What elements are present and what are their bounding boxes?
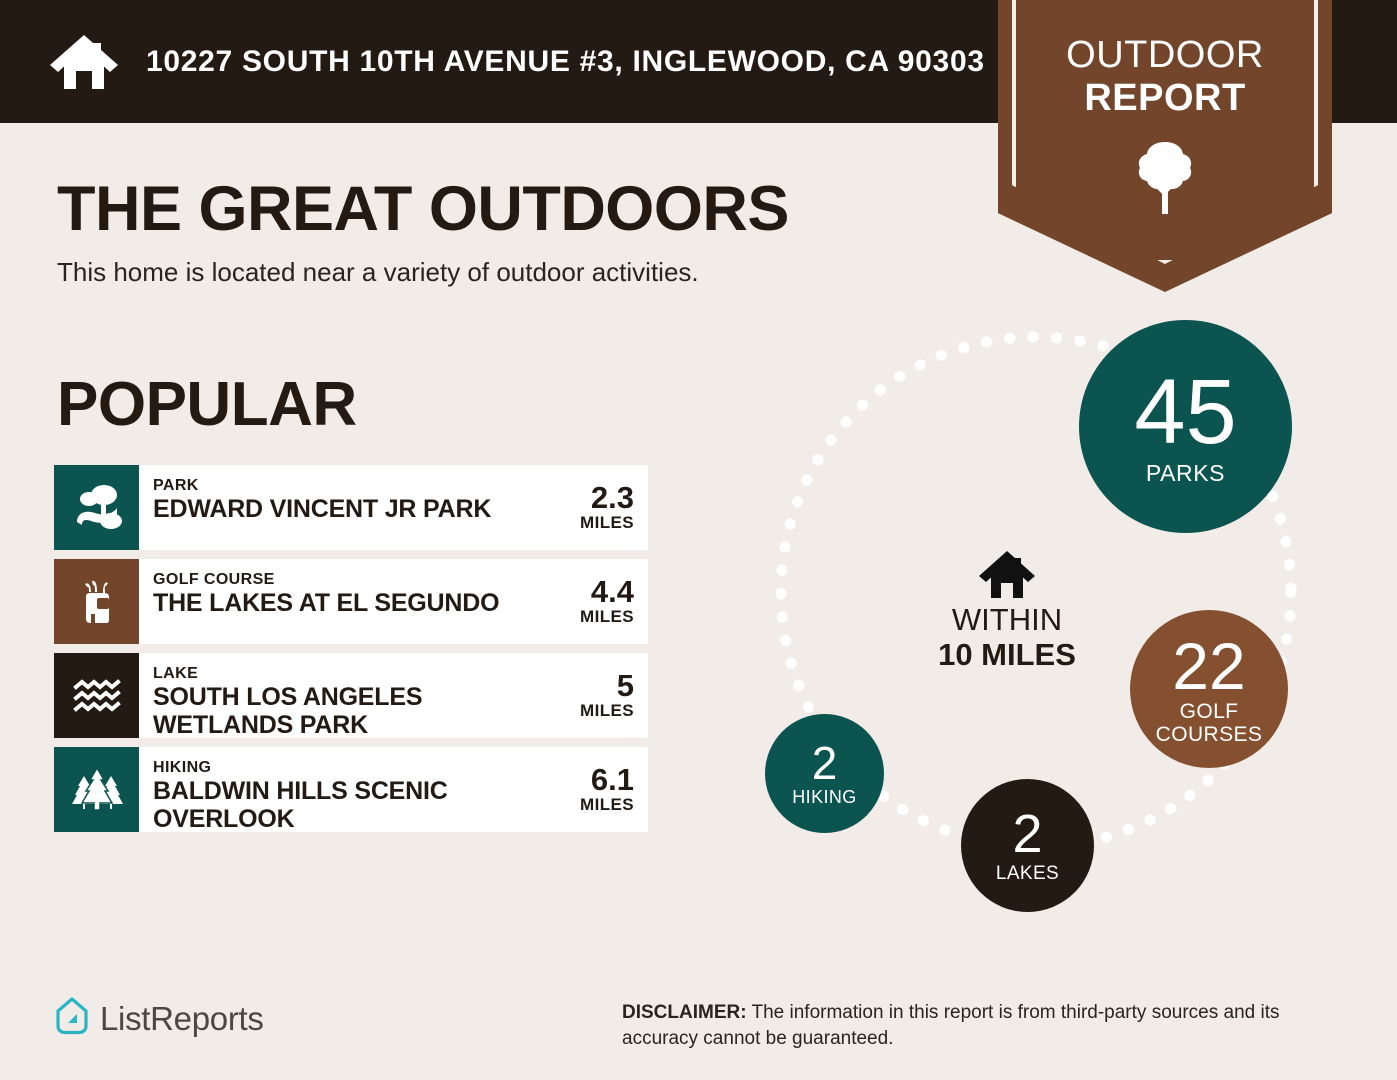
golf-bag-icon: [54, 559, 139, 644]
distance-unit: MILES: [580, 607, 634, 627]
within-label-line1: WITHIN: [916, 602, 1098, 637]
listreports-wordmark: ListReports: [100, 1000, 264, 1038]
distance-unit: MILES: [580, 513, 634, 533]
bubble-parks-value: 45: [1134, 366, 1236, 458]
list-item-category: HIKING: [153, 759, 548, 777]
badge-title-line2: REPORT: [998, 77, 1332, 120]
section-heading-popular: POPULAR: [57, 369, 357, 440]
tree-icon: [1135, 140, 1195, 216]
page-subtitle: This home is located near a variety of o…: [57, 257, 699, 288]
list-item-category: GOLF COURSE: [153, 571, 548, 589]
within-10-miles-diagram: 45 PARKS 22 GOLF COURSES 2 LAKES 2 HIKIN…: [736, 300, 1376, 940]
distance-value: 2.3: [591, 482, 634, 513]
disclaimer-label: DISCLAIMER:: [622, 1002, 747, 1023]
distance-value: 4.4: [591, 576, 634, 607]
distance-value: 6.1: [591, 764, 634, 795]
bubble-golf-courses[interactable]: 22 GOLF COURSES: [1130, 610, 1288, 768]
popular-list: PARK EDWARD VINCENT JR PARK 2.3 MILES GO…: [54, 465, 648, 841]
page-title: THE GREAT OUTDOORS: [57, 173, 789, 245]
bubble-hiking-value: 2: [812, 740, 838, 786]
bubble-hiking-label: HIKING: [792, 787, 856, 808]
bubble-lakes-value: 2: [1012, 807, 1042, 861]
bubble-parks-label: PARKS: [1146, 460, 1225, 487]
list-item-name: THE LAKES AT EL SEGUNDO: [153, 589, 548, 617]
list-item-body: LAKE SOUTH LOS ANGELES WETLANDS PARK: [139, 653, 552, 738]
within-label-line2: 10 MILES: [916, 637, 1098, 672]
waves-icon: [54, 653, 139, 738]
distance-unit: MILES: [580, 701, 634, 721]
listreports-house-pin-icon: [54, 996, 90, 1041]
list-item-distance: 2.3 MILES: [552, 465, 648, 550]
list-item[interactable]: HIKING BALDWIN HILLS SCENIC OVERLOOK 6.1…: [54, 747, 648, 832]
badge-title: OUTDOOR REPORT: [998, 34, 1332, 120]
disclaimer: DISCLAIMER: The information in this repo…: [622, 1000, 1342, 1052]
bubble-golf-label-line2: COURSES: [1156, 723, 1263, 746]
list-item-category: PARK: [153, 477, 548, 495]
bubble-parks[interactable]: 45 PARKS: [1079, 320, 1292, 533]
bubble-hiking[interactable]: 2 HIKING: [765, 714, 884, 833]
bubble-golf-label-line1: GOLF: [1180, 700, 1239, 723]
list-item-category: LAKE: [153, 665, 548, 683]
list-item-name: SOUTH LOS ANGELES WETLANDS PARK: [153, 683, 548, 738]
list-item-name: EDWARD VINCENT JR PARK: [153, 495, 548, 523]
list-item-body: PARK EDWARD VINCENT JR PARK: [139, 465, 552, 550]
within-distance-label: WITHIN 10 MILES: [916, 602, 1098, 672]
pine-trees-icon: [54, 747, 139, 832]
list-item-distance: 5 MILES: [552, 653, 648, 738]
property-address: 10227 SOUTH 10TH AVENUE #3, INGLEWOOD, C…: [146, 45, 985, 79]
house-icon: [977, 549, 1037, 601]
badge-title-line1: OUTDOOR: [998, 34, 1332, 77]
listreports-logo[interactable]: ListReports: [54, 996, 264, 1041]
bubble-lakes[interactable]: 2 LAKES: [961, 779, 1094, 912]
list-item[interactable]: GOLF COURSE THE LAKES AT EL SEGUNDO 4.4 …: [54, 559, 648, 644]
outdoor-report-badge: OUTDOOR REPORT: [998, 0, 1332, 292]
list-item[interactable]: LAKE SOUTH LOS ANGELES WETLANDS PARK 5 M…: [54, 653, 648, 738]
list-item-distance: 6.1 MILES: [552, 747, 648, 832]
house-icon: [48, 31, 120, 93]
bubble-lakes-label: LAKES: [996, 863, 1059, 885]
distance-unit: MILES: [580, 795, 634, 815]
list-item-name: BALDWIN HILLS SCENIC OVERLOOK: [153, 777, 548, 832]
distance-value: 5: [617, 670, 634, 701]
list-item-body: GOLF COURSE THE LAKES AT EL SEGUNDO: [139, 559, 552, 644]
park-tree-icon: [54, 465, 139, 550]
list-item-body: HIKING BALDWIN HILLS SCENIC OVERLOOK: [139, 747, 552, 832]
bubble-golf-value: 22: [1172, 633, 1245, 699]
list-item[interactable]: PARK EDWARD VINCENT JR PARK 2.3 MILES: [54, 465, 648, 550]
list-item-distance: 4.4 MILES: [552, 559, 648, 644]
